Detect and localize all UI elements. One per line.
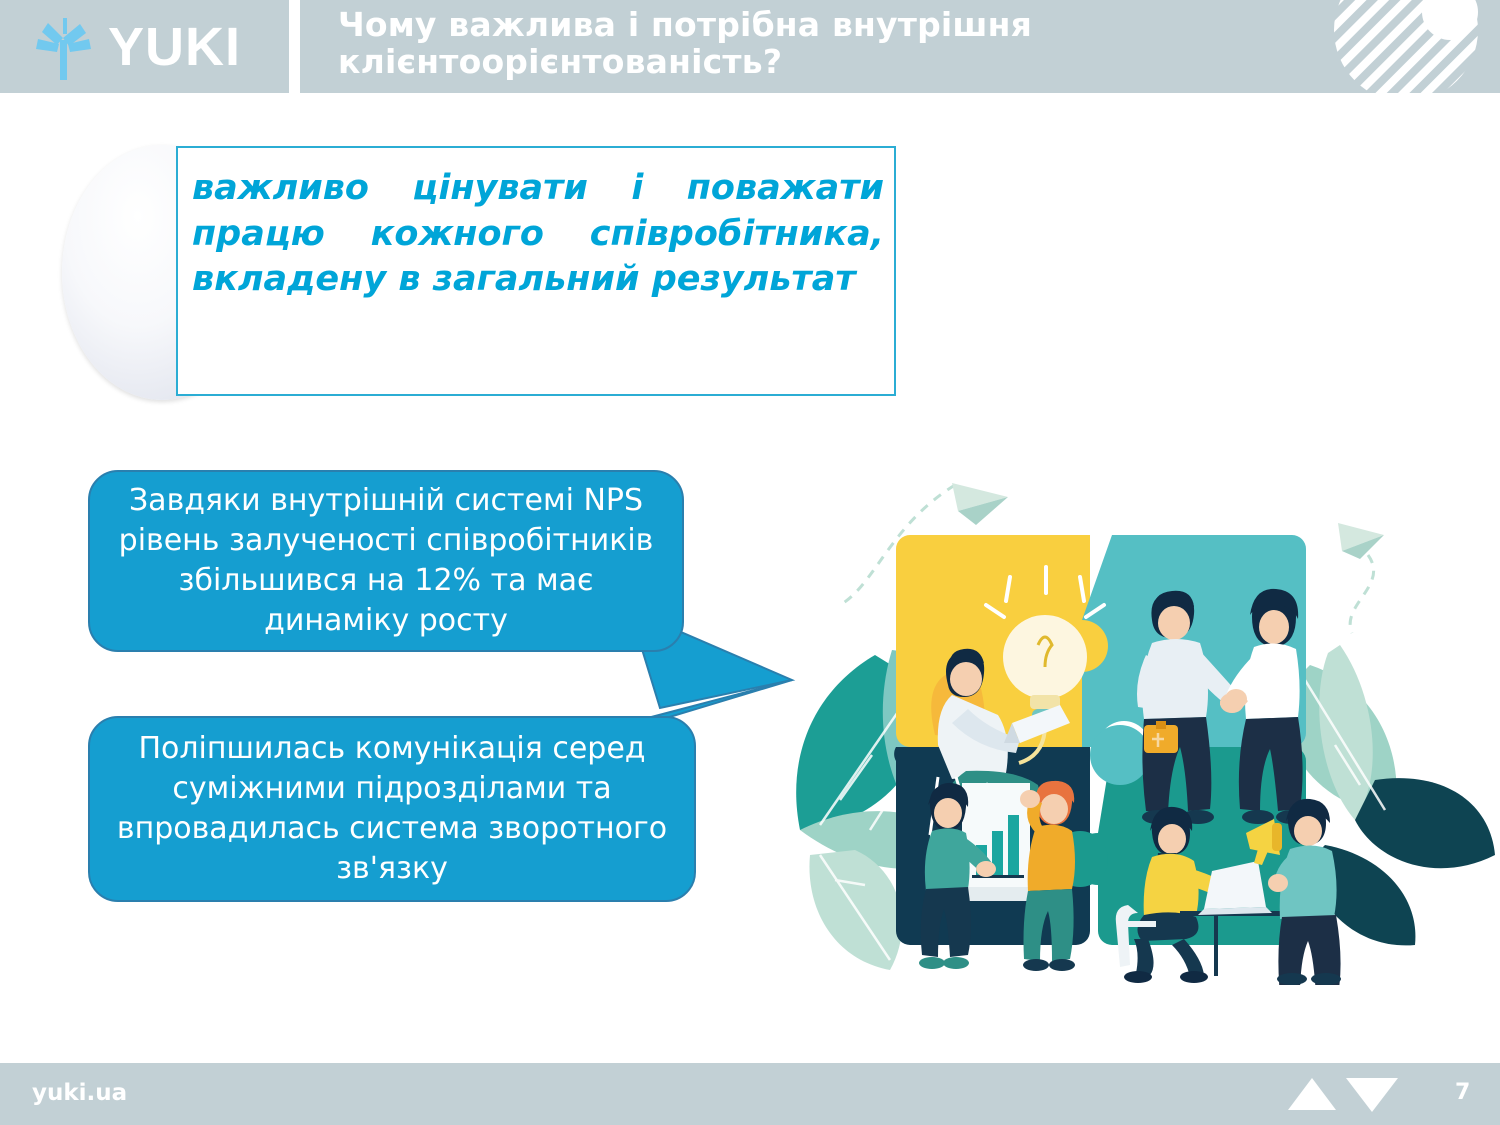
footer-url[interactable]: yuki.ua xyxy=(32,1080,127,1106)
speech-bubble-nps-text: Завдяки внутрішній системі NPS рівень за… xyxy=(114,481,658,641)
logo-wordmark: YUKI xyxy=(108,20,241,74)
yuki-star-icon xyxy=(26,10,100,84)
nav-down-arrow-icon[interactable] xyxy=(1346,1078,1398,1112)
nav-arrows xyxy=(1288,1076,1398,1114)
slide-root: YUKI Чому важлива і потрібна внутрішня к… xyxy=(0,0,1500,1125)
speech-bubble-communication[interactable]: Поліпшилась комунікація серед суміжними … xyxy=(88,716,696,902)
page-title: Чому важлива і потрібна внутрішня клієнт… xyxy=(338,7,1288,81)
speech-bubble-communication-text: Поліпшилась комунікація серед суміжними … xyxy=(114,729,670,889)
page-number: 7 xyxy=(1455,1080,1470,1105)
teamwork-puzzle-illustration xyxy=(780,455,1500,985)
striped-circle-decoration xyxy=(1310,0,1500,93)
brand-logo[interactable]: YUKI xyxy=(26,8,276,86)
quote-text: важливо цінувати і поважати працю кожног… xyxy=(192,166,884,303)
quote-box: важливо цінувати і поважати працю кожног… xyxy=(176,146,896,396)
nav-up-arrow-icon[interactable] xyxy=(1288,1078,1336,1110)
speech-bubble-nps[interactable]: Завдяки внутрішній системі NPS рівень за… xyxy=(88,470,684,652)
footer-bar xyxy=(0,1063,1500,1125)
